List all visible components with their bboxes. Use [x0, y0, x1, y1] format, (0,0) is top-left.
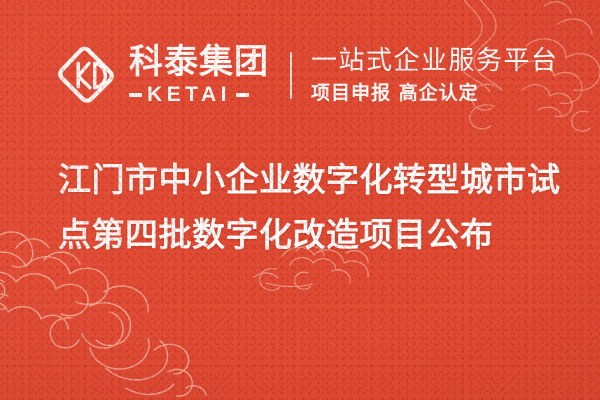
- banner-title-line-2: 点第四批数字化改造项目公布: [58, 215, 494, 254]
- brand-rule-right-icon: [236, 93, 249, 97]
- promo-banner: 科泰集团 KETAI 一站式企业服务平台 项目申报 高企认定 江门市中小企业数字…: [0, 0, 600, 400]
- banner-title: 江门市中小企业数字化转型城市试 点第四批数字化改造项目公布: [58, 152, 568, 262]
- brand-lockup: 科泰集团 KETAI: [129, 45, 269, 105]
- header-divider: [290, 52, 292, 99]
- brand-rule-left-icon: [129, 93, 142, 97]
- brand-name-en: KETAI: [147, 84, 231, 105]
- brand-name-en-row: KETAI: [129, 84, 269, 105]
- slogan-secondary: 项目申报 高企认定: [311, 83, 559, 104]
- slogan-primary: 一站式企业服务平台: [311, 47, 559, 76]
- slogan-block: 一站式企业服务平台 项目申报 高企认定: [311, 47, 559, 104]
- banner-header: 科泰集团 KETAI 一站式企业服务平台 项目申报 高企认定: [55, 34, 559, 116]
- ketai-diamond-logo-icon: [55, 44, 117, 106]
- brand-name-cn: 科泰集团: [129, 45, 269, 79]
- banner-title-line-1: 江门市中小企业数字化转型城市试: [58, 160, 561, 199]
